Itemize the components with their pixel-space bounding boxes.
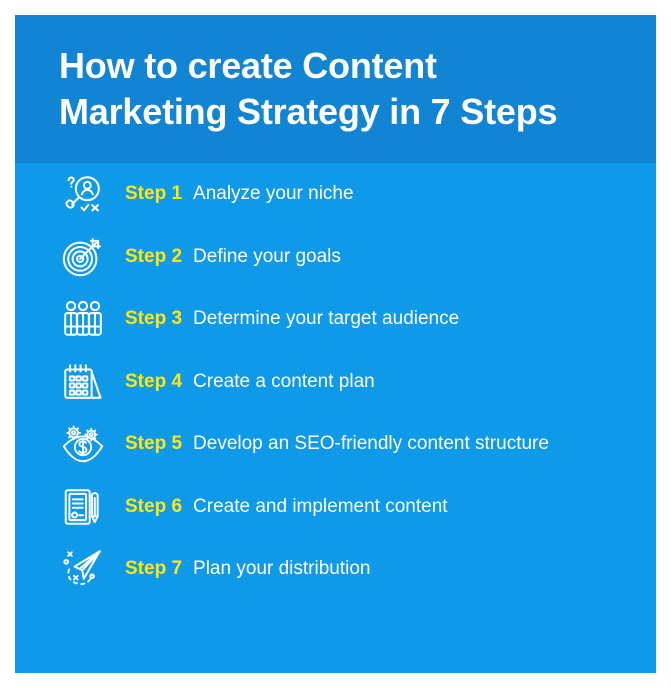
step-label: Step 5 (125, 433, 182, 455)
paper-plane-icon (59, 545, 107, 593)
step-description: Analyze your niche (193, 183, 354, 205)
step-text: Step 4 Create a content plan (125, 371, 375, 393)
step-label: Step 4 (125, 371, 182, 393)
list-item: Step 6 Create and implement content (15, 476, 656, 539)
step-label: Step 7 (125, 558, 182, 580)
step-label: Step 3 (125, 308, 182, 330)
step-label: Step 6 (125, 496, 182, 518)
calendar-icon (59, 358, 107, 406)
list-item: Step 2 Define your goals (15, 226, 656, 289)
infographic-panel: How to create Content Marketing Strategy… (15, 15, 656, 673)
list-item: Step 3 Determine your target audience (15, 288, 656, 351)
step-text: Step 7 Plan your distribution (125, 558, 370, 580)
step-text: Step 5 Develop an SEO-friendly content s… (125, 433, 549, 455)
title-line-2: Marketing Strategy in 7 Steps (59, 89, 629, 135)
step-text: Step 3 Determine your target audience (125, 308, 459, 330)
document-pen-icon (59, 483, 107, 531)
target-arrow-icon (59, 233, 107, 281)
list-item: Step 7 Plan your distribution (15, 538, 656, 601)
magnifier-person-icon (59, 170, 107, 218)
step-text: Step 2 Define your goals (125, 246, 341, 268)
step-text: Step 1 Analyze your niche (125, 183, 354, 205)
step-description: Develop an SEO-friendly content structur… (193, 433, 549, 455)
list-item: Step 5 Develop an SEO-friendly content s… (15, 413, 656, 476)
people-group-icon (59, 295, 107, 343)
step-text: Step 6 Create and implement content (125, 496, 448, 518)
step-description: Plan your distribution (193, 558, 370, 580)
step-label: Step 2 (125, 246, 182, 268)
page-title: How to create Content Marketing Strategy… (59, 43, 629, 135)
title-line-1: How to create Content (59, 43, 629, 89)
gears-dollar-eye-icon (59, 420, 107, 468)
header-band: How to create Content Marketing Strategy… (15, 15, 656, 163)
steps-list: Step 1 Analyze your niche Step 2 (15, 163, 656, 601)
list-item: Step 4 Create a content plan (15, 351, 656, 414)
step-description: Determine your target audience (193, 308, 459, 330)
list-item: Step 1 Analyze your niche (15, 163, 656, 226)
step-description: Create and implement content (193, 496, 448, 518)
step-description: Define your goals (193, 246, 341, 268)
step-label: Step 1 (125, 183, 182, 205)
step-description: Create a content plan (193, 371, 375, 393)
